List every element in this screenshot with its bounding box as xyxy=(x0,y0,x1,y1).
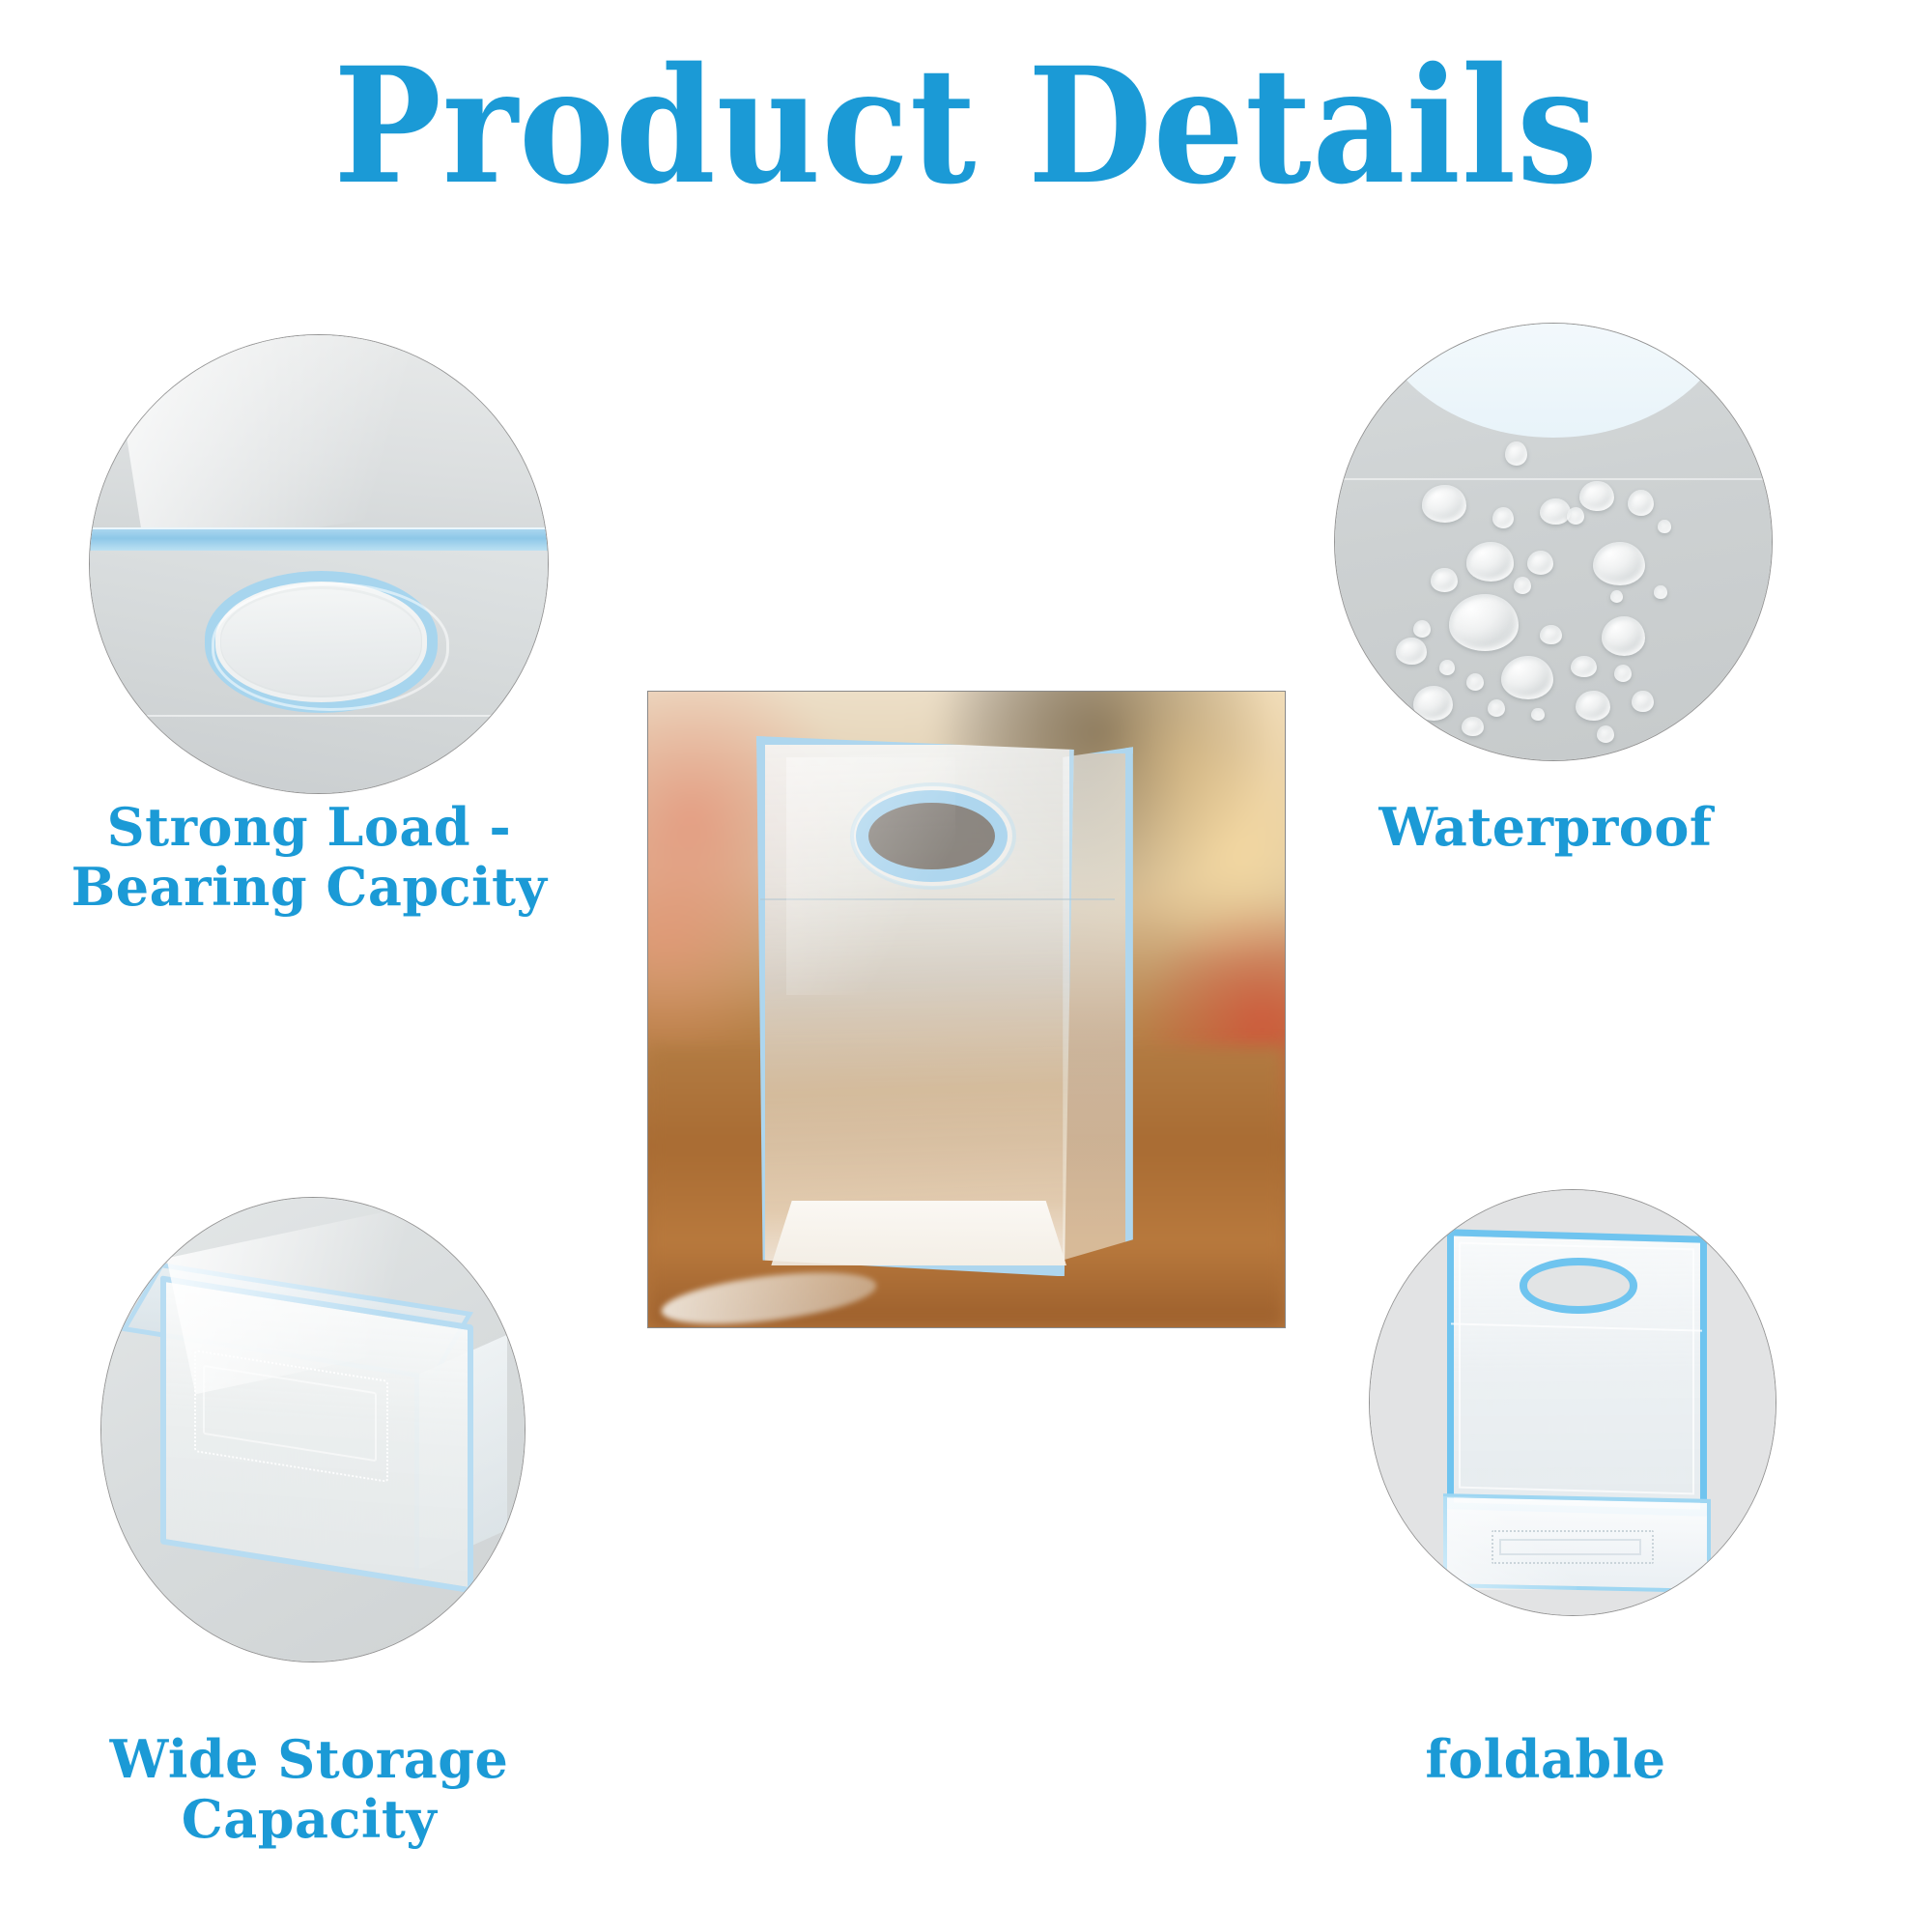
water-droplet xyxy=(1505,441,1527,466)
water-droplet xyxy=(1531,708,1545,722)
bag-base-panel xyxy=(771,1201,1066,1265)
feature-label-wide-storage: Wide Storage Capacity xyxy=(39,1729,580,1849)
water-droplet xyxy=(1576,691,1610,722)
water-droplet xyxy=(1571,656,1597,678)
water-droplet xyxy=(1422,485,1465,522)
water-droplet xyxy=(1466,673,1484,691)
infographic-page: Product Details Strong Load - Bearing Ca… xyxy=(0,0,1932,1932)
strong-load-illustration xyxy=(90,335,548,793)
page-title: Product Details xyxy=(97,46,1835,206)
bag-side-panel xyxy=(1063,747,1133,1260)
hero-product-image xyxy=(648,692,1285,1327)
water-droplet xyxy=(1431,568,1457,592)
feature-image-wide-storage xyxy=(101,1198,525,1662)
water-droplet xyxy=(1597,725,1614,743)
water-droplet xyxy=(1466,542,1515,582)
feature-image-foldable xyxy=(1370,1190,1776,1615)
foldable-illustration xyxy=(1370,1190,1776,1615)
water-droplet xyxy=(1488,699,1505,717)
product-bag xyxy=(756,736,1125,1276)
waterproof-illustration xyxy=(1335,324,1772,760)
water-droplet xyxy=(1579,481,1614,512)
water-droplet xyxy=(1567,507,1584,525)
feature-label-waterproof: Waterproof xyxy=(1275,797,1816,857)
oval-handle-cutout xyxy=(1520,1258,1637,1313)
water-droplet xyxy=(1396,638,1427,664)
bag-seam-line xyxy=(1335,478,1772,480)
water-droplet xyxy=(1540,625,1562,644)
plastic-glare xyxy=(786,757,956,995)
handle-reinforcement-ring xyxy=(212,582,449,711)
water-droplet xyxy=(1540,498,1571,525)
water-droplet xyxy=(1658,520,1671,533)
water-droplet xyxy=(1527,551,1553,575)
feature-image-waterproof xyxy=(1335,324,1772,760)
water-droplet xyxy=(1439,660,1455,675)
feature-image-strong-load xyxy=(90,335,548,793)
water-droplet xyxy=(1628,490,1654,516)
water-droplet xyxy=(1632,691,1654,713)
water-droplet xyxy=(1492,507,1515,529)
blue-trim-band xyxy=(90,527,548,552)
water-droplet xyxy=(1593,542,1645,585)
base-emboss-inner xyxy=(1499,1539,1641,1556)
water-droplet xyxy=(1449,594,1519,651)
feature-label-strong-load: Strong Load - Bearing Capcity xyxy=(39,797,580,917)
water-droplet xyxy=(1614,665,1632,682)
water-droplet xyxy=(1654,585,1667,599)
water-droplet xyxy=(1602,616,1645,656)
wide-storage-illustration xyxy=(101,1198,525,1662)
water-droplet xyxy=(1501,656,1553,699)
water-droplet xyxy=(1462,717,1484,736)
water-droplet xyxy=(1413,686,1453,721)
feature-label-foldable: foldable xyxy=(1275,1729,1816,1789)
bag-fold-line xyxy=(90,715,548,717)
